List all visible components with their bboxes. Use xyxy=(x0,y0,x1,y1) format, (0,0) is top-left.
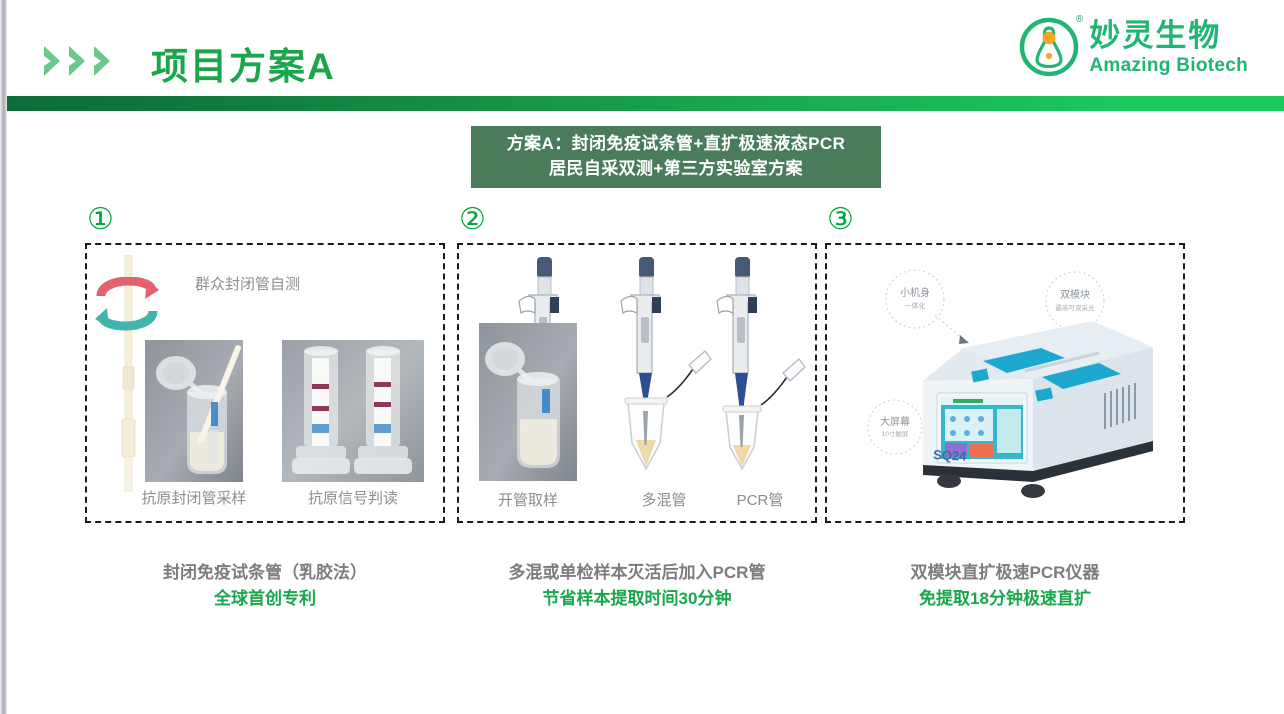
caption-1-top: 封闭免疫试条管（乳胶法） xyxy=(85,560,445,586)
registered-mark: ® xyxy=(1076,14,1083,25)
slide-header: 项目方案A ® 妙灵生物 Amazing Biotech xyxy=(7,0,1284,96)
step-3-panel: 小机身 一体化 双模块 最高可双采光 大屏幕 10寸触屏 xyxy=(825,243,1185,523)
flask-circle-logo-icon: ® xyxy=(1018,16,1080,78)
banner-line-2: 居民自采双测+第三方实验室方案 xyxy=(549,157,803,182)
brand-logo: ® 妙灵生物 Amazing Biotech xyxy=(1018,16,1248,78)
step-2-tile-3-caption: PCR管 xyxy=(705,489,815,510)
svg-text:双模块: 双模块 xyxy=(1060,289,1090,301)
scheme-banner: 方案A：封闭免疫试条管+直扩极速液态PCR 居民自采双测+第三方实验室方案 xyxy=(471,126,881,188)
caption-1: 封闭免疫试条管（乳胶法） 全球首创专利 xyxy=(85,560,445,613)
step-2: ② xyxy=(457,205,817,523)
pcr-instrument-photo: 小机身 一体化 双模块 最高可双采光 大屏幕 10寸触屏 xyxy=(837,253,1173,515)
caption-2-bottom: 节省样本提取时间30分钟 xyxy=(457,586,817,612)
logo-text-en: Amazing Biotech xyxy=(1089,56,1248,75)
step-1-panel: 群众封闭管自测 xyxy=(85,243,445,523)
window-edge-strip xyxy=(0,0,7,714)
caption-2-top: 多混或单检样本灭活后加入PCR管 xyxy=(457,560,817,586)
chevron-right-icon xyxy=(92,44,114,78)
svg-text:最高可双采光: 最高可双采光 xyxy=(1056,303,1096,312)
svg-text:小机身: 小机身 xyxy=(900,286,930,299)
step-3: ③ 小机身 一体化 双模块 最高可双采光 大屏幕 xyxy=(825,205,1185,523)
logo-text-cn: 妙灵生物 xyxy=(1089,20,1248,51)
svg-text:10寸触屏: 10寸触屏 xyxy=(882,429,909,438)
antigen-sealed-tube-sampling-photo xyxy=(145,340,243,482)
svg-text:SQ24: SQ24 xyxy=(933,447,968,464)
step-2-tile-1-caption: 开管取样 xyxy=(479,489,577,510)
caption-1-bottom: 全球首创专利 xyxy=(85,586,445,612)
step-1-tile-1-caption: 抗原封闭管采样 xyxy=(127,487,261,508)
step-3-badge: ③ xyxy=(827,205,1185,239)
pcr-tube-illustration xyxy=(705,255,815,485)
svg-text:一体化: 一体化 xyxy=(905,301,926,310)
captions-row: 封闭免疫试条管（乳胶法） 全球首创专利 多混或单检样本灭活后加入PCR管 节省样… xyxy=(7,560,1284,640)
step-2-badge: ② xyxy=(459,205,817,239)
step-1-header-note: 群众封闭管自测 xyxy=(195,273,300,294)
pooled-mixing-tube-illustration xyxy=(609,255,719,485)
header-divider-bar xyxy=(7,96,1284,111)
step-2-panel: 开管取样 xyxy=(457,243,817,523)
antigen-signal-readout-photo xyxy=(282,340,424,482)
step-1: ① 群众封闭管自测 xyxy=(85,205,445,523)
chevron-right-icon xyxy=(67,44,89,78)
step-2-tile-2-caption: 多混管 xyxy=(609,489,719,510)
page-title: 项目方案A xyxy=(151,36,336,90)
step-1-badge: ① xyxy=(87,205,445,239)
svg-text:大屏幕: 大屏幕 xyxy=(880,415,910,428)
caption-3-bottom: 免提取18分钟极速直扩 xyxy=(825,586,1185,612)
caption-3: 双模块直扩极速PCR仪器 免提取18分钟极速直扩 xyxy=(825,560,1185,613)
slide-canvas: 项目方案A ® 妙灵生物 Amazing Biotech 方案A：封闭免疫试条管… xyxy=(7,0,1284,714)
caption-3-top: 双模块直扩极速PCR仪器 xyxy=(825,560,1185,586)
banner-line-1: 方案A：封闭免疫试条管+直扩极速液态PCR xyxy=(507,132,846,157)
caption-2: 多混或单检样本灭活后加入PCR管 节省样本提取时间30分钟 xyxy=(457,560,817,613)
rotation-arrows-icon xyxy=(95,277,161,333)
chevron-right-icon xyxy=(42,44,64,78)
open-tube-sampling-photo xyxy=(479,323,577,481)
step-1-tile-2-caption: 抗原信号判读 xyxy=(282,487,424,508)
chevrons-right-icon xyxy=(42,44,114,78)
